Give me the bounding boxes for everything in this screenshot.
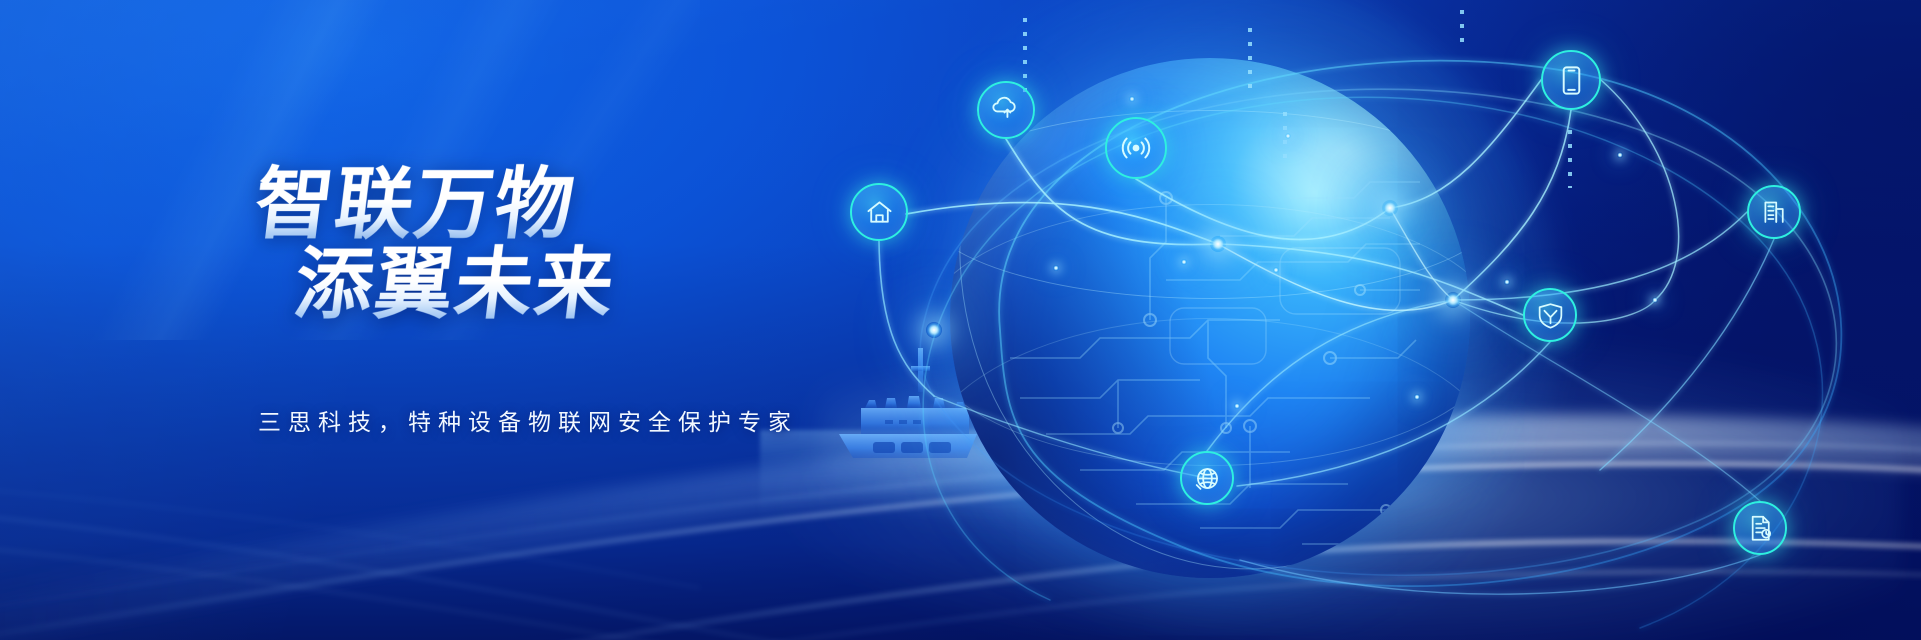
network-spark	[1181, 259, 1187, 265]
network-spark	[1234, 403, 1240, 409]
node-wifi-signal[interactable]	[1105, 117, 1167, 179]
network-spark	[1414, 394, 1420, 400]
node-globe-network[interactable]	[1180, 451, 1234, 505]
document-icon	[1744, 512, 1777, 545]
node-home[interactable]	[850, 183, 908, 241]
node-shield[interactable]	[1523, 288, 1577, 342]
home-icon	[862, 195, 897, 230]
network-spark	[1652, 297, 1658, 303]
building-icon	[1758, 196, 1791, 229]
network-spark	[1445, 292, 1461, 308]
node-document[interactable]	[1733, 501, 1787, 555]
wifi-signal-icon	[1117, 129, 1155, 167]
globe-network-icon	[1191, 462, 1224, 495]
network-spark	[1273, 267, 1279, 273]
hero-banner: 智联万物 添翼未来 三思科技，特种设备物联网安全保护专家	[0, 0, 1921, 640]
cloud-upload-icon	[989, 93, 1024, 128]
network-spark	[1210, 236, 1226, 252]
smartphone-icon	[1553, 62, 1590, 99]
network-spark	[1053, 265, 1059, 271]
network-spark	[1504, 279, 1510, 285]
shield-icon	[1534, 299, 1567, 332]
network-spark	[1617, 152, 1623, 158]
node-building[interactable]	[1747, 185, 1801, 239]
network-spark	[1285, 133, 1291, 139]
network-spark	[1382, 200, 1398, 216]
network-spark	[926, 322, 942, 338]
node-smartphone[interactable]	[1541, 50, 1601, 110]
network-spark	[1129, 96, 1135, 102]
node-cloud-upload[interactable]	[977, 81, 1035, 139]
